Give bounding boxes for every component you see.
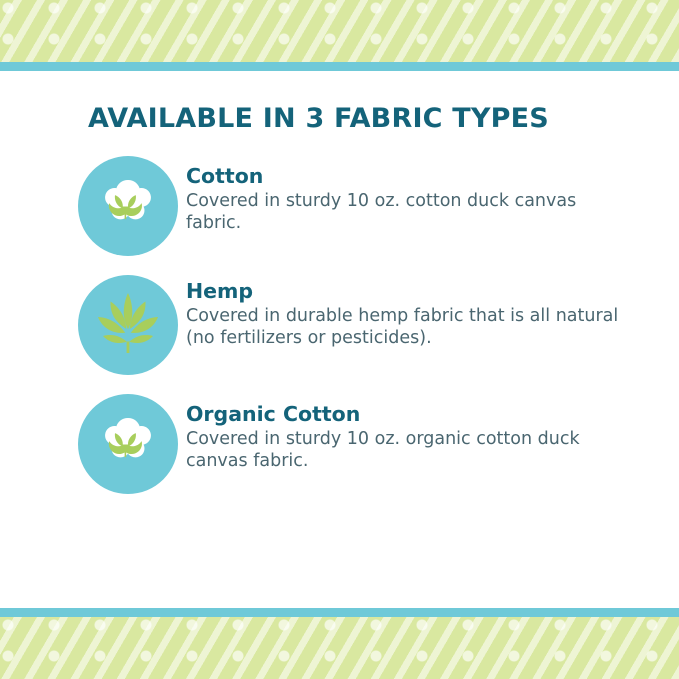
band-dot-pattern — [0, 617, 679, 679]
cotton-boll-icon — [94, 408, 162, 480]
icon-container — [70, 394, 186, 494]
page-title: AVAILABLE IN 3 FABRIC TYPES — [0, 71, 679, 134]
item-title: Cotton — [186, 164, 631, 188]
item-title: Hemp — [186, 279, 631, 303]
list-item: Organic Cotton Covered in sturdy 10 oz. … — [70, 394, 679, 494]
bottom-teal-rule — [0, 608, 679, 617]
item-text-block: Hemp Covered in durable hemp fabric that… — [186, 275, 679, 350]
icon-container — [70, 156, 186, 256]
top-decorative-band — [0, 0, 679, 62]
icon-circle-background — [78, 156, 178, 256]
item-description: Covered in sturdy 10 oz. cotton duck can… — [186, 190, 631, 235]
item-description: Covered in sturdy 10 oz. organic cotton … — [186, 428, 631, 473]
cotton-boll-icon — [94, 170, 162, 242]
icon-container — [70, 275, 186, 375]
icon-circle-background — [78, 394, 178, 494]
bottom-decorative-band — [0, 617, 679, 679]
item-title: Organic Cotton — [186, 402, 631, 426]
top-teal-rule — [0, 62, 679, 71]
item-text-block: Organic Cotton Covered in sturdy 10 oz. … — [186, 394, 679, 473]
fabric-type-list: Cotton Covered in sturdy 10 oz. cotton d… — [0, 156, 679, 494]
item-text-block: Cotton Covered in sturdy 10 oz. cotton d… — [186, 156, 679, 235]
fabric-types-infographic: AVAILABLE IN 3 FABRIC TYPES Co — [0, 0, 679, 679]
list-item: Cotton Covered in sturdy 10 oz. cotton d… — [70, 156, 679, 256]
list-item: Hemp Covered in durable hemp fabric that… — [70, 275, 679, 375]
icon-circle-background — [78, 275, 178, 375]
item-description: Covered in durable hemp fabric that is a… — [186, 305, 631, 350]
band-dot-pattern — [0, 0, 679, 62]
content-area: AVAILABLE IN 3 FABRIC TYPES Co — [0, 71, 679, 608]
hemp-leaf-icon — [90, 285, 166, 365]
